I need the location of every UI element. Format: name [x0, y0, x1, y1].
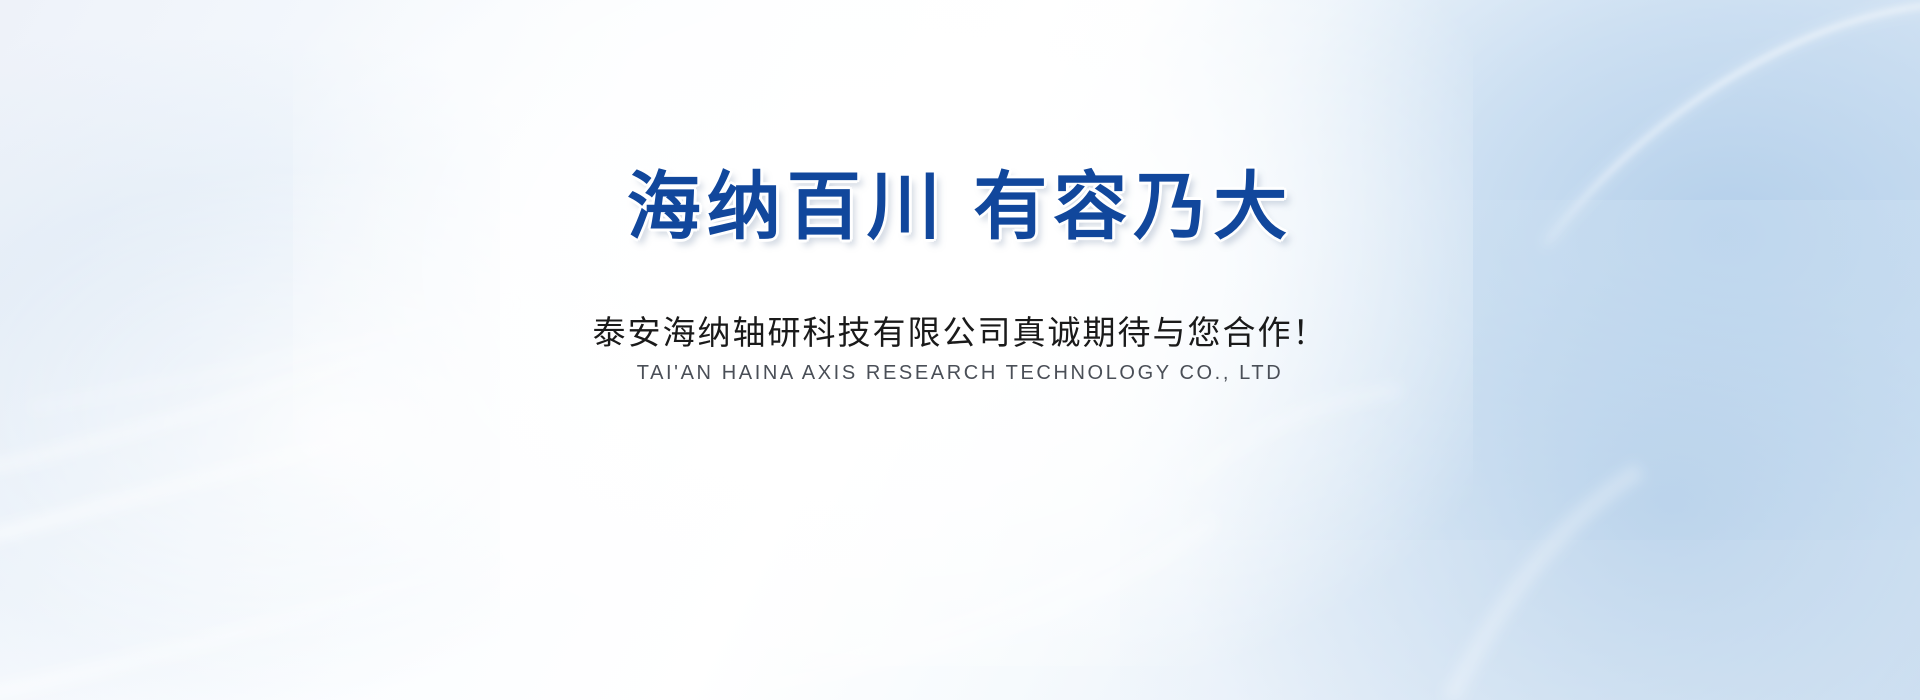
hero-banner: 海纳百川 有容乃大 泰安海纳轴研科技有限公司真诚期待与您合作！ TAI'AN H… — [0, 0, 1920, 700]
banner-subtitle-english: TAI'AN HAINA AXIS RESEARCH TECHNOLOGY CO… — [0, 362, 1920, 385]
banner-subtitle-chinese: 泰安海纳轴研科技有限公司真诚期待与您合作！ — [0, 306, 1920, 354]
banner-headline: 海纳百川 有容乃大 — [0, 168, 1920, 246]
banner-content: 海纳百川 有容乃大 泰安海纳轴研科技有限公司真诚期待与您合作！ TAI'AN H… — [0, 0, 1920, 700]
